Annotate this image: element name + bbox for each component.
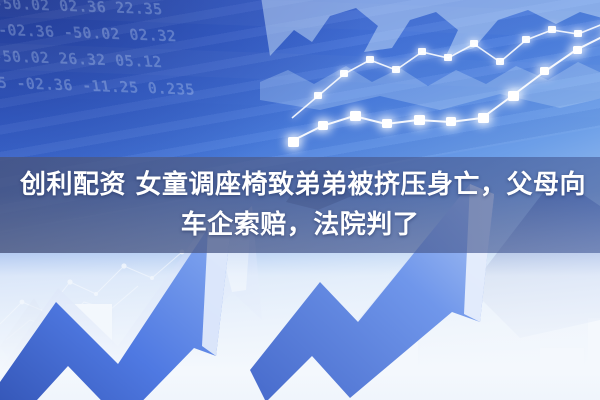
glow-line-lower (290, 32, 600, 142)
glow-chart-nodes (288, 28, 600, 147)
news-banner: -11.25 +5.02 -02.36 21.35 45.02 +00.02 -… (0, 0, 600, 400)
glow-chart-nodes-upper (314, 26, 582, 99)
glowing-line-chart (290, 0, 600, 150)
headline-line-2: 车企索赔，法院判了 (181, 206, 420, 244)
headline-line-1: 创利配资 女童调座椅致弟弟被挤压身亡，父母向 (14, 166, 586, 204)
page-title: 创利配资 女童调座椅致弟弟被挤压身亡，父母向 车企索赔，法院判了 (0, 157, 600, 253)
glow-line-upper (292, 22, 600, 118)
